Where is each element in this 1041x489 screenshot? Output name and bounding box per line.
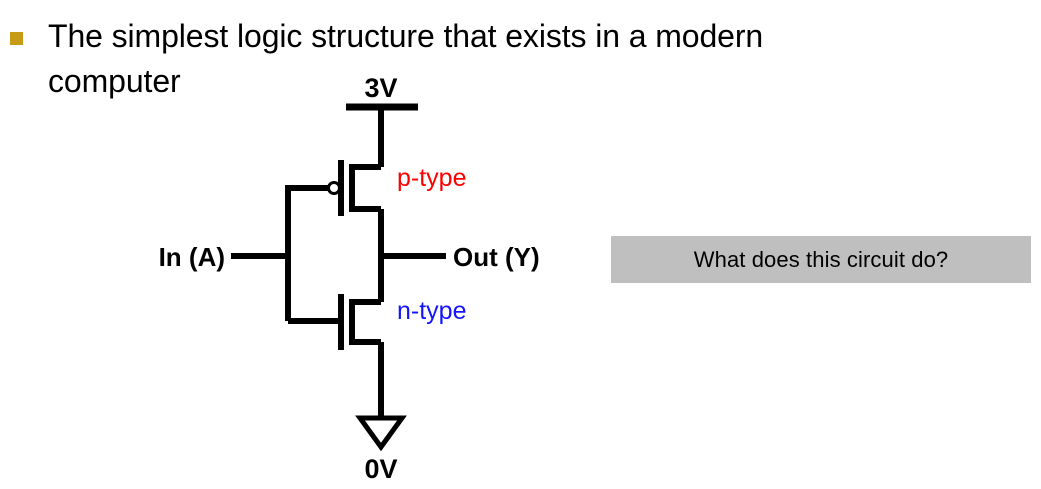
question-callout-box: What does this circuit do? (611, 236, 1031, 283)
supply-label: 3V (364, 73, 397, 103)
cmos-inverter-diagram: 3V 0V In (A) Out (Y) p-type n-type (0, 0, 620, 489)
ground-label: 0V (364, 454, 397, 484)
pmos-label: p-type (397, 164, 466, 192)
ground-triangle-icon (360, 418, 402, 447)
question-callout-text: What does this circuit do? (694, 247, 949, 273)
nmos-label: n-type (397, 297, 466, 325)
input-label: In (A) (159, 242, 225, 272)
output-label: Out (Y) (453, 242, 540, 272)
pmos-inversion-bubble-icon (329, 183, 340, 194)
